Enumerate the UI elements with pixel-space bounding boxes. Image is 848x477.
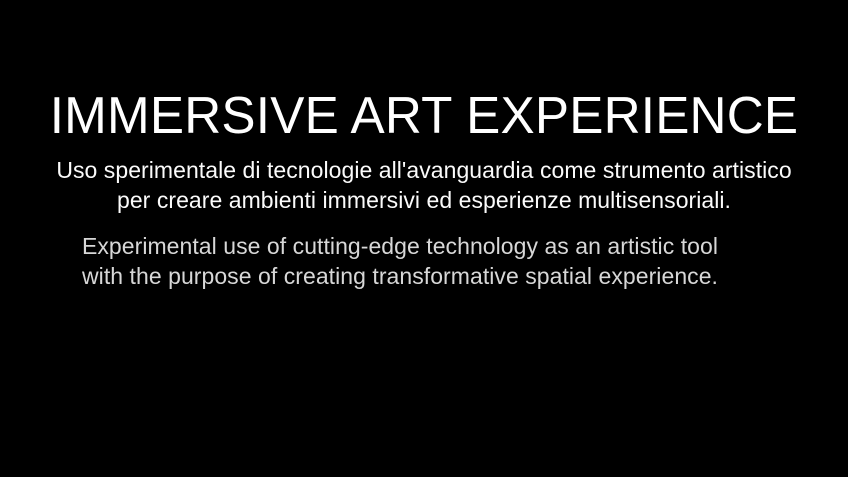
- body-text-english-line-1: Experimental use of cutting-edge technol…: [0, 231, 824, 261]
- body-text-italian-line-1: Uso sperimentale di tecnologie all'avang…: [0, 155, 848, 185]
- page-title: IMMERSIVE ART EXPERIENCE: [6, 87, 841, 145]
- body-text-english-line-2: with the purpose of creating transformat…: [0, 261, 824, 291]
- body-text-italian-line-2: per creare ambienti immersivi ed esperie…: [0, 185, 848, 215]
- body-text-english: Experimental use of cutting-edge technol…: [0, 231, 824, 291]
- presentation-slide: IMMERSIVE ART EXPERIENCE Uso sperimental…: [0, 0, 848, 477]
- body-text-italian: Uso sperimentale di tecnologie all'avang…: [0, 155, 848, 215]
